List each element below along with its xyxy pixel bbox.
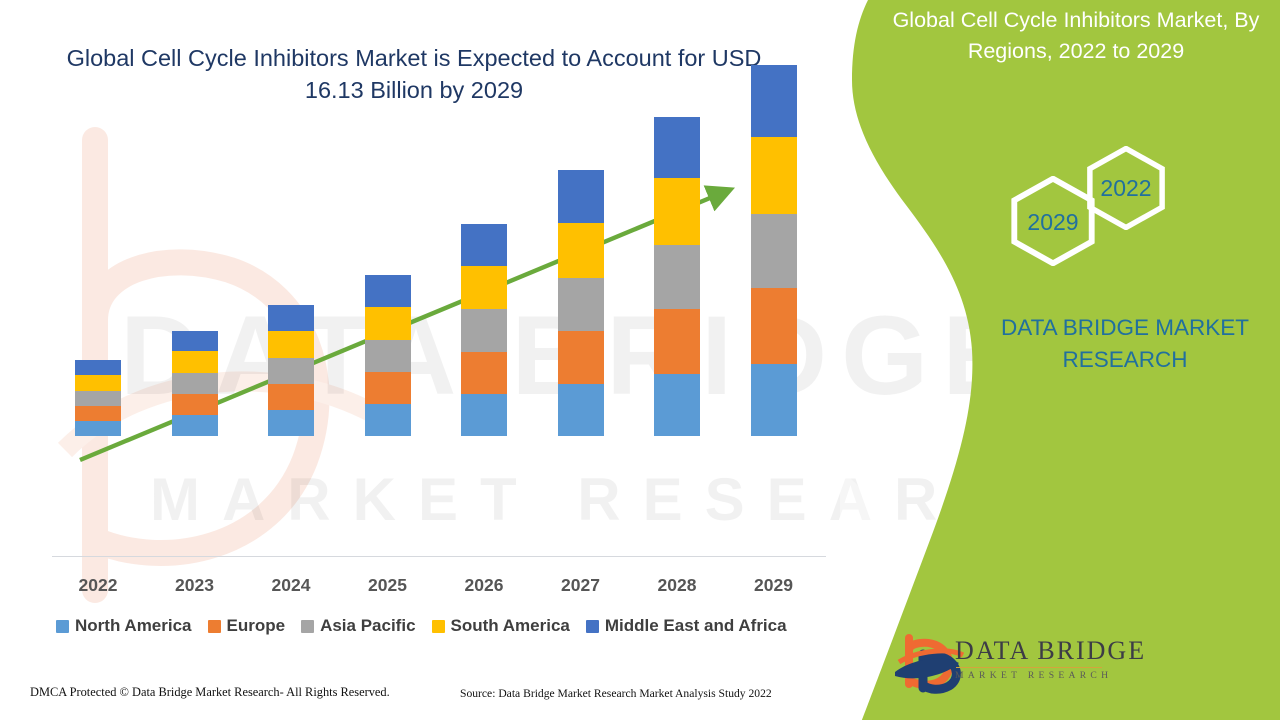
legend-swatch [301, 620, 314, 633]
legend-swatch [432, 620, 445, 633]
x-label-2027: 2027 [541, 575, 621, 596]
bar-segment [365, 275, 411, 307]
bar-segment [268, 384, 314, 410]
x-label-2029: 2029 [734, 575, 814, 596]
bar-2028 [654, 117, 700, 436]
dbmr-logo-text: DATA BRIDGE MARKET RESEARCH [955, 638, 1146, 681]
hexagon-badge-end: 2029 [1008, 176, 1098, 268]
bar-segment [75, 391, 121, 406]
bar-2027 [558, 170, 604, 436]
bar-segment [654, 117, 700, 178]
bar-segment [751, 364, 797, 436]
bar-segment [75, 360, 121, 375]
x-label-2028: 2028 [637, 575, 717, 596]
bar-segment [172, 394, 218, 415]
bar-segment [365, 340, 411, 372]
footer-source: Source: Data Bridge Market Research Mark… [460, 687, 772, 700]
bar-segment [172, 373, 218, 394]
infographic-root: DATA BRIDGE MARKET RESEARCH Global Cell … [0, 0, 1280, 720]
footer-copyright: DMCA Protected © Data Bridge Market Rese… [30, 685, 390, 700]
legend-swatch [208, 620, 221, 633]
x-label-2025: 2025 [348, 575, 428, 596]
bar-segment [268, 305, 314, 331]
bar-2025 [365, 275, 411, 436]
bar-segment [461, 309, 507, 352]
logo-sub-text: MARKET RESEARCH [955, 671, 1146, 681]
chart-legend: North AmericaEuropeAsia PacificSouth Ame… [56, 616, 836, 636]
bar-segment [172, 331, 218, 351]
bar-segment [558, 278, 604, 331]
bar-2022 [75, 360, 121, 436]
bar-segment [558, 384, 604, 436]
bar-segment [75, 406, 121, 421]
logo-divider [956, 667, 1102, 668]
bar-segment [172, 415, 218, 436]
legend-item[interactable]: Europe [208, 616, 286, 636]
bar-segment [654, 245, 700, 309]
legend-swatch [56, 620, 69, 633]
bar-segment [558, 170, 604, 223]
panel-title: Global Cell Cycle Inhibitors Market, By … [880, 5, 1272, 66]
bar-segment [365, 372, 411, 404]
bar-segment [268, 331, 314, 358]
bar-segment [461, 224, 507, 266]
brand-name: DATA BRIDGE MARKET RESEARCH [960, 312, 1280, 376]
bar-segment [654, 374, 700, 436]
bar-segment [654, 309, 700, 374]
bar-2026 [461, 224, 507, 436]
legend-item[interactable]: South America [432, 616, 570, 636]
bar-segment [461, 394, 507, 436]
legend-swatch [586, 620, 599, 633]
bar-segment [654, 178, 700, 245]
bar-segment [75, 421, 121, 436]
bar-segment [461, 352, 507, 394]
bar-segment [751, 65, 797, 137]
x-label-2026: 2026 [444, 575, 524, 596]
bar-segment [365, 404, 411, 436]
legend-label: Asia Pacific [320, 616, 415, 636]
bar-segment [172, 351, 218, 373]
bar-segment [751, 288, 797, 364]
x-label-2022: 2022 [58, 575, 138, 596]
legend-item[interactable]: North America [56, 616, 192, 636]
bar-segment [751, 214, 797, 288]
x-label-2024: 2024 [251, 575, 331, 596]
bar-2023 [172, 331, 218, 436]
x-label-2023: 2023 [155, 575, 235, 596]
bar-segment [558, 331, 604, 384]
bar-segment [268, 410, 314, 436]
hexagon-end-label: 2029 [1027, 209, 1078, 236]
legend-label: Europe [227, 616, 286, 636]
bar-segment [365, 307, 411, 340]
bar-2024 [268, 305, 314, 436]
growth-arrow [0, 0, 860, 600]
logo-main-text: DATA BRIDGE [955, 638, 1146, 664]
bar-segment [461, 266, 507, 309]
legend-item[interactable]: Asia Pacific [301, 616, 415, 636]
legend-label: South America [451, 616, 570, 636]
bar-2029 [751, 65, 797, 436]
bar-segment [75, 375, 121, 391]
bar-chart: 20222023202420252026202720282029 [0, 0, 860, 600]
bar-segment [751, 137, 797, 214]
bar-segment [268, 358, 314, 384]
hexagon-start-label: 2022 [1100, 175, 1151, 202]
legend-label: Middle East and Africa [605, 616, 787, 636]
legend-item[interactable]: Middle East and Africa [586, 616, 787, 636]
bar-segment [558, 223, 604, 278]
legend-label: North America [75, 616, 192, 636]
x-axis-line [52, 556, 826, 557]
